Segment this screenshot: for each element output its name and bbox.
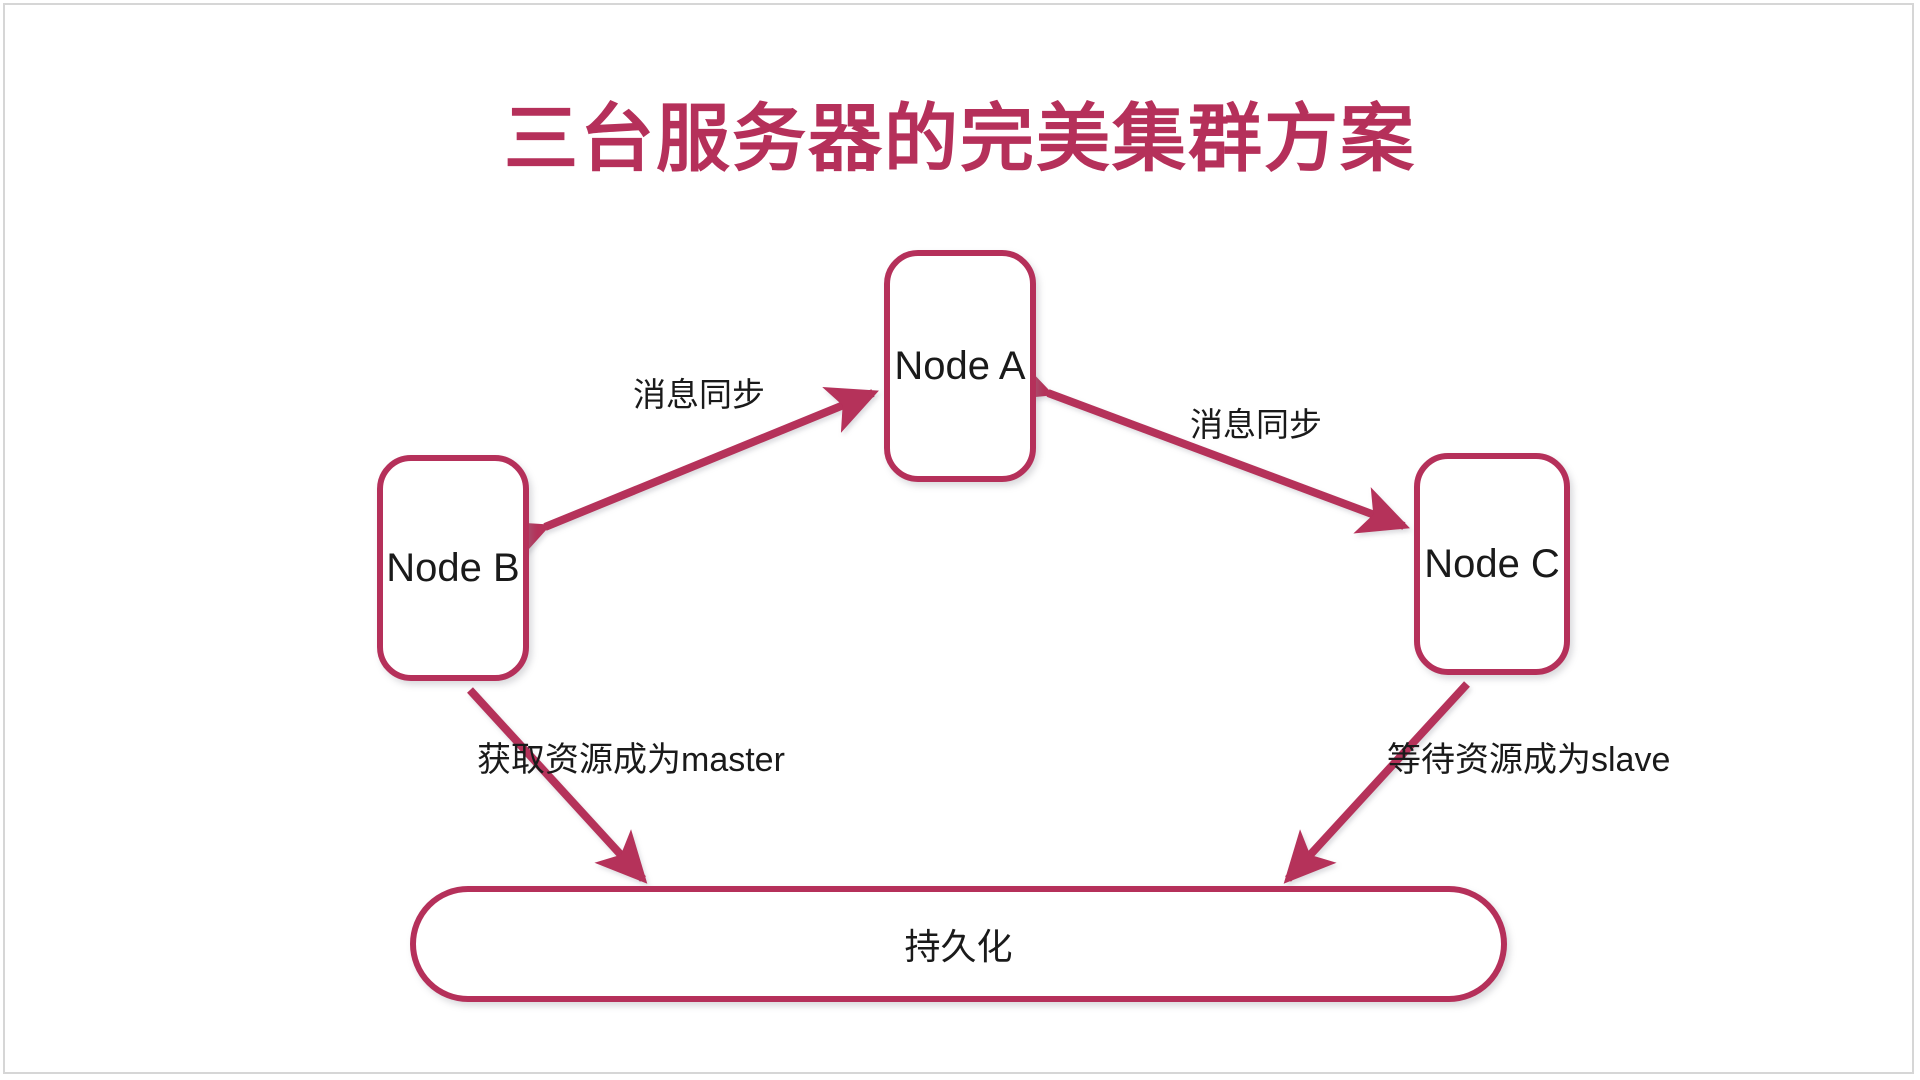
edge-label-sync-left: 消息同步 bbox=[633, 375, 765, 415]
edge-node-b-persistence bbox=[470, 690, 643, 879]
persistence-label: 持久化 bbox=[904, 918, 1012, 970]
edge-node-c-persistence bbox=[1288, 684, 1467, 879]
diagram-canvas: 三台服务器的完美集群方案 Node A Node B Node C bbox=[0, 0, 1920, 1080]
persistence-box[interactable]: 持久化 bbox=[410, 886, 1507, 1002]
node-b-box[interactable]: Node B bbox=[377, 455, 529, 681]
node-a-box[interactable]: Node A bbox=[884, 250, 1036, 482]
node-b-label: Node B bbox=[386, 546, 519, 591]
node-c-label: Node C bbox=[1424, 542, 1560, 587]
edge-label-acquire-master: 获取资源成为master bbox=[477, 740, 785, 780]
edge-label-wait-slave: 等待资源成为slave bbox=[1387, 740, 1670, 780]
node-a-label: Node A bbox=[894, 344, 1025, 389]
node-c-box[interactable]: Node C bbox=[1414, 453, 1570, 675]
edge-label-sync-right: 消息同步 bbox=[1190, 405, 1322, 445]
